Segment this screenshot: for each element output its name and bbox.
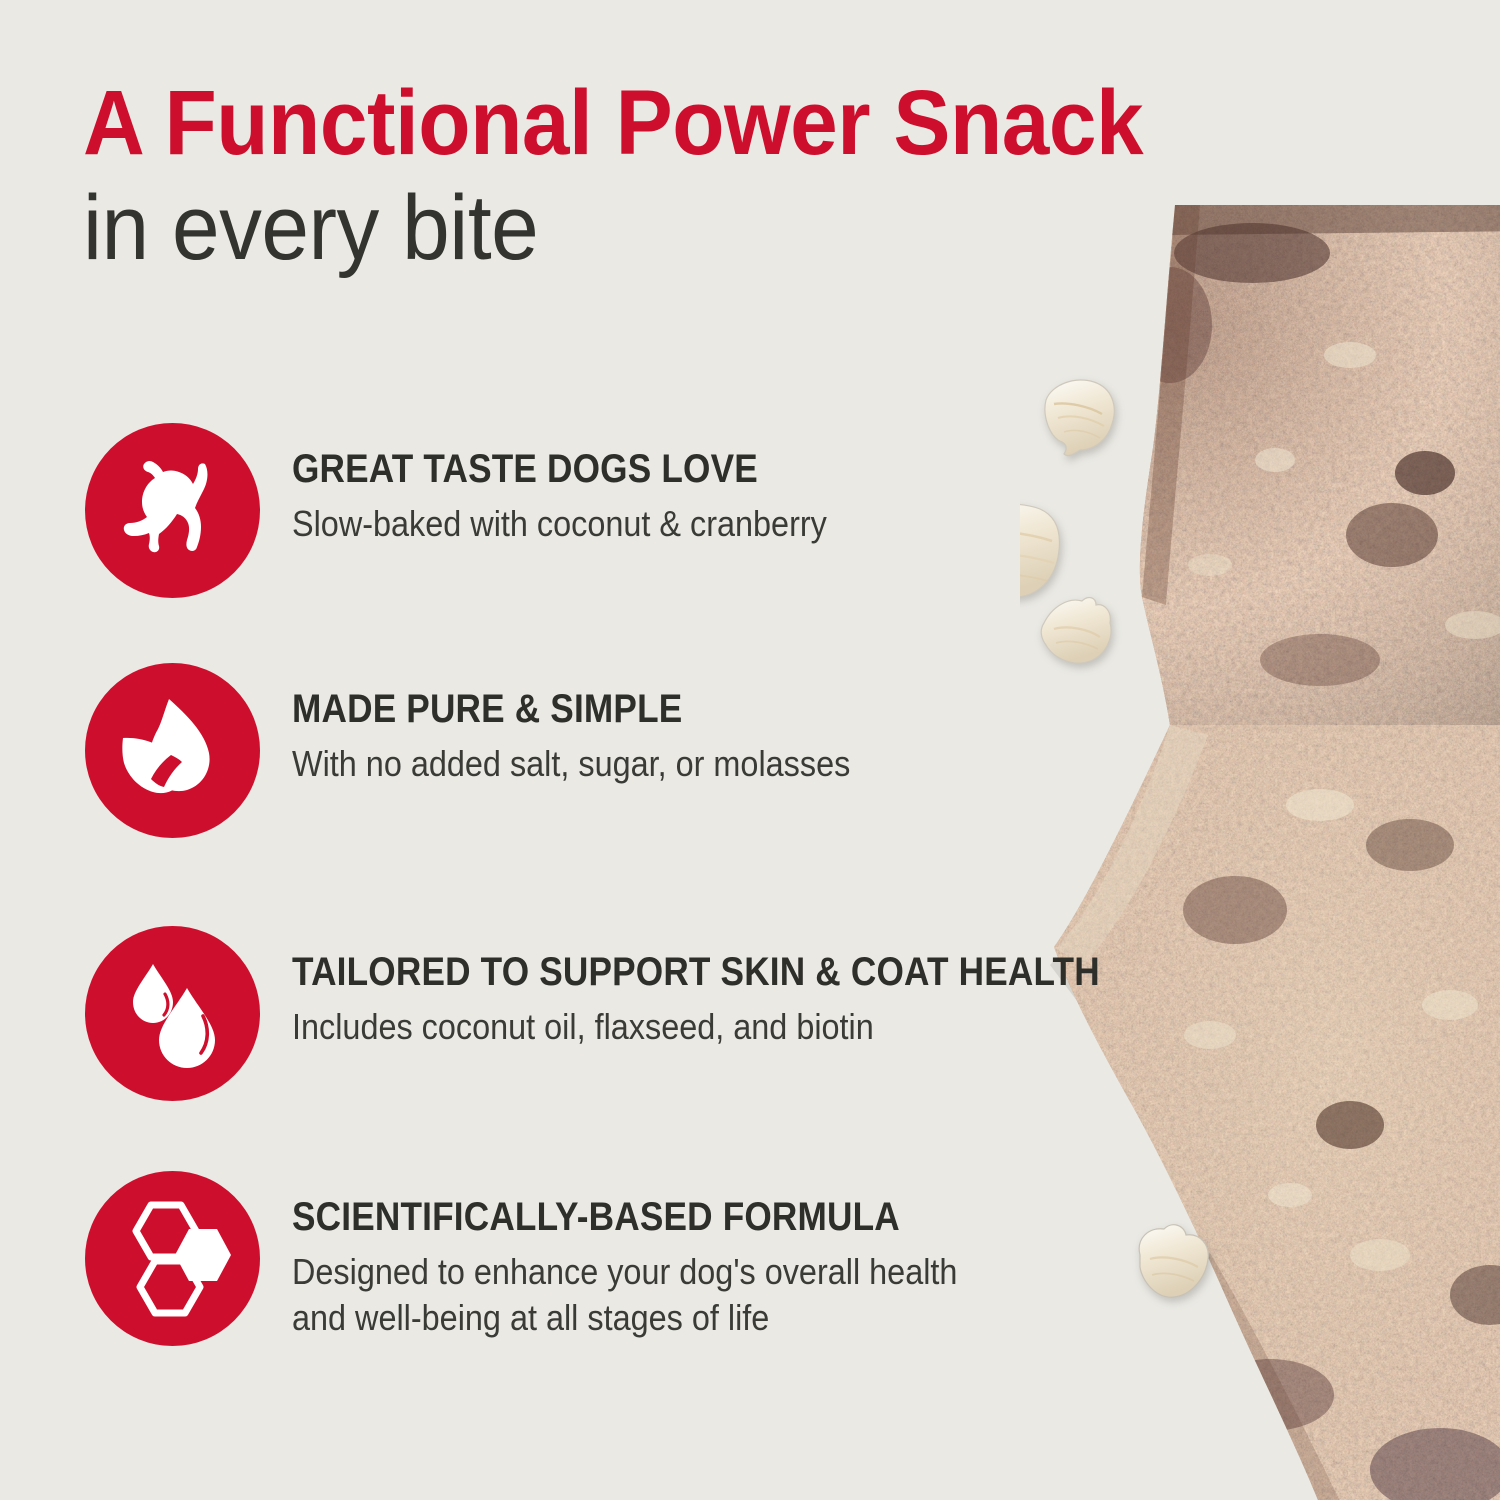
feature-text: SCIENTIFICALLY-BASED FORMULA Designed to…	[292, 1171, 1031, 1341]
droplets-icon	[113, 954, 233, 1074]
feature-icon-badge	[85, 663, 260, 838]
hexagons-icon	[113, 1199, 233, 1319]
feature-description: Slow-baked with coconut & cranberry	[292, 501, 827, 547]
feature-heading: SCIENTIFICALLY-BASED FORMULA	[292, 1197, 943, 1237]
infographic-canvas: A Functional Power Snack in every bite	[0, 0, 1500, 1500]
treat-bar-top	[1020, 205, 1500, 745]
product-photo-image	[1020, 205, 1500, 1500]
feature-text: MADE PURE & SIMPLE With no added salt, s…	[292, 663, 912, 787]
feature-description-line: Designed to enhance your dog's overall h…	[292, 1249, 957, 1295]
feature-row: GREAT TASTE DOGS LOVE Slow-baked with co…	[85, 423, 886, 598]
feature-row: TAILORED TO SUPPORT SKIN & COAT HEALTH I…	[85, 926, 1210, 1101]
feature-description-line: Slow-baked with coconut & cranberry	[292, 501, 827, 547]
feature-heading: TAILORED TO SUPPORT SKIN & COAT HEALTH	[292, 952, 1100, 992]
feature-text: TAILORED TO SUPPORT SKIN & COAT HEALTH I…	[292, 926, 1210, 1050]
feature-heading: GREAT TASTE DOGS LOVE	[292, 449, 815, 489]
product-photo	[1020, 205, 1500, 1500]
leaves-icon	[113, 691, 233, 811]
headline-line-1: A Functional Power Snack	[83, 78, 1348, 168]
oat-flake	[1139, 1225, 1208, 1297]
feature-icon-badge	[85, 1171, 260, 1346]
feature-description-line: With no added salt, sugar, or molasses	[292, 741, 850, 787]
feature-description-line: Includes coconut oil, flaxseed, and biot…	[292, 1004, 1118, 1050]
oat-flake	[1020, 504, 1059, 597]
oat-flake	[1045, 380, 1114, 456]
feature-description: With no added salt, sugar, or molasses	[292, 741, 850, 787]
feature-icon-badge	[85, 926, 260, 1101]
feature-description: Includes coconut oil, flaxseed, and biot…	[292, 1004, 1118, 1050]
feature-heading: MADE PURE & SIMPLE	[292, 689, 838, 729]
oat-flake	[1041, 598, 1111, 664]
feature-row: SCIENTIFICALLY-BASED FORMULA Designed to…	[85, 1171, 1031, 1346]
dog-icon	[113, 451, 233, 571]
feature-description: Designed to enhance your dog's overall h…	[292, 1249, 957, 1341]
feature-row: MADE PURE & SIMPLE With no added salt, s…	[85, 663, 912, 838]
feature-icon-badge	[85, 423, 260, 598]
feature-text: GREAT TASTE DOGS LOVE Slow-baked with co…	[292, 423, 886, 547]
feature-description-line: and well-being at all stages of life	[292, 1295, 957, 1341]
